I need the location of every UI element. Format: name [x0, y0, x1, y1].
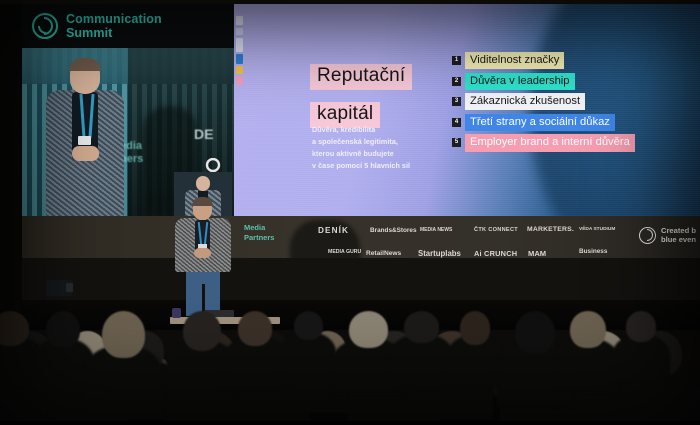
- slide-list-number-badge: 5: [452, 138, 461, 147]
- slide-list-number-badge: 2: [452, 77, 461, 86]
- slide-list-item-label: Employer brand a interní důvěra: [465, 134, 635, 151]
- slide-title-line1: Reputační: [310, 64, 412, 90]
- slide-list-item: 2Důvěra v leadership: [452, 73, 700, 90]
- slide-subtitle-line: Důvěra, kredibilita: [312, 124, 410, 136]
- slide-list-item-label: Třetí strany a sociální důkaz: [465, 114, 615, 131]
- slide-list-item: 4Třetí strany a sociální důkaz: [452, 114, 700, 131]
- sponsor-logo: DENÍK: [318, 226, 349, 235]
- live-video-feed: edianers DE: [22, 48, 234, 216]
- slide-subtitle-line: kterou aktivně budujete: [312, 148, 410, 160]
- top-frame-edge: [0, 0, 700, 4]
- slide-edge-color-marks: [236, 16, 244, 96]
- audience-head: [460, 311, 490, 345]
- pip-head: [196, 176, 210, 191]
- feed-speaker-hair: [69, 58, 101, 71]
- audience-head: [46, 311, 79, 348]
- led-presentation-screen: Communication Summit edianers DE: [22, 4, 700, 264]
- slide-list-item-label: Zákaznická zkušenost: [465, 93, 585, 110]
- sponsor-logo: ČTK CONNECT: [474, 227, 518, 233]
- event-logo-line2: Summit: [66, 26, 162, 40]
- slide-list-item: 1Viditelnost značky: [452, 52, 700, 69]
- audience-head: [404, 311, 439, 343]
- slide-subtitle: Důvěra, kredibilitaa společenská legitim…: [312, 124, 410, 172]
- slide-list-item-label: Důvěra v leadership: [465, 73, 575, 90]
- slide-edge-mark: [236, 28, 243, 35]
- audience-head: [238, 311, 272, 346]
- feed-sponsor-glyph: DE: [194, 126, 213, 142]
- slide-title: Reputační kapitál: [310, 52, 412, 128]
- audience-head: [294, 311, 323, 340]
- bottom-frame-edge: [0, 421, 700, 425]
- slide-list-item-label: Viditelnost značky: [465, 52, 564, 69]
- slide-edge-mark: [236, 16, 243, 25]
- slide-subtitle-line: v čase pomocí 5 hlavních sil: [312, 160, 410, 172]
- sponsor-logo: Brands&Stores: [370, 227, 417, 234]
- presenter-hair: [192, 197, 213, 206]
- swirl-circle-icon: [32, 13, 58, 39]
- audience-head: [0, 311, 29, 346]
- media-partners-line1: Media: [244, 223, 274, 233]
- feed-speaker-hands: [72, 146, 99, 161]
- slide-edge-mark: [236, 76, 243, 85]
- audience-head: [102, 311, 145, 358]
- conference-photo: Communication Summit edianers DE: [0, 0, 700, 425]
- left-frame-edge: [0, 0, 22, 310]
- event-logo-text: Communication Summit: [66, 12, 162, 40]
- slide-subtitle-line: a společenská legitimita,: [312, 136, 410, 148]
- feed-speaker-badge: [78, 136, 91, 145]
- audience-head: [570, 311, 605, 348]
- event-logo-line1: Communication: [66, 12, 162, 26]
- audience-head: [349, 311, 388, 348]
- slide-content: Reputační kapitál Důvěra, kredibilitaa s…: [234, 4, 700, 216]
- audience-head: [515, 311, 555, 354]
- slide-edge-mark: [236, 66, 243, 74]
- sponsor-logo: MEDIA NEWS: [420, 227, 452, 233]
- audience-silhouettes: [0, 235, 700, 425]
- slide-edge-mark: [236, 38, 243, 52]
- sponsor-logo: VĚDA STUDIUM: [579, 227, 615, 232]
- sponsor-logo: MARKETERS.: [527, 226, 574, 233]
- audience-head: [183, 311, 221, 351]
- slide-list-number-badge: 4: [452, 118, 461, 127]
- slide-list-number-badge: 3: [452, 97, 461, 106]
- audience-camera-lens: [66, 283, 73, 292]
- audience-head: [626, 311, 657, 342]
- slide-list-number-badge: 1: [452, 56, 461, 65]
- slide-list-item: 3Zákaznická zkušenost: [452, 93, 700, 110]
- slide-edge-mark: [236, 54, 243, 64]
- slide-list-item: 5Employer brand a interní důvěra: [452, 134, 700, 151]
- slide-numbered-list: 1Viditelnost značky2Důvěra v leadership3…: [452, 52, 700, 155]
- event-logo-bar: Communication Summit: [22, 4, 234, 48]
- feed-speaker-figure: [44, 58, 126, 216]
